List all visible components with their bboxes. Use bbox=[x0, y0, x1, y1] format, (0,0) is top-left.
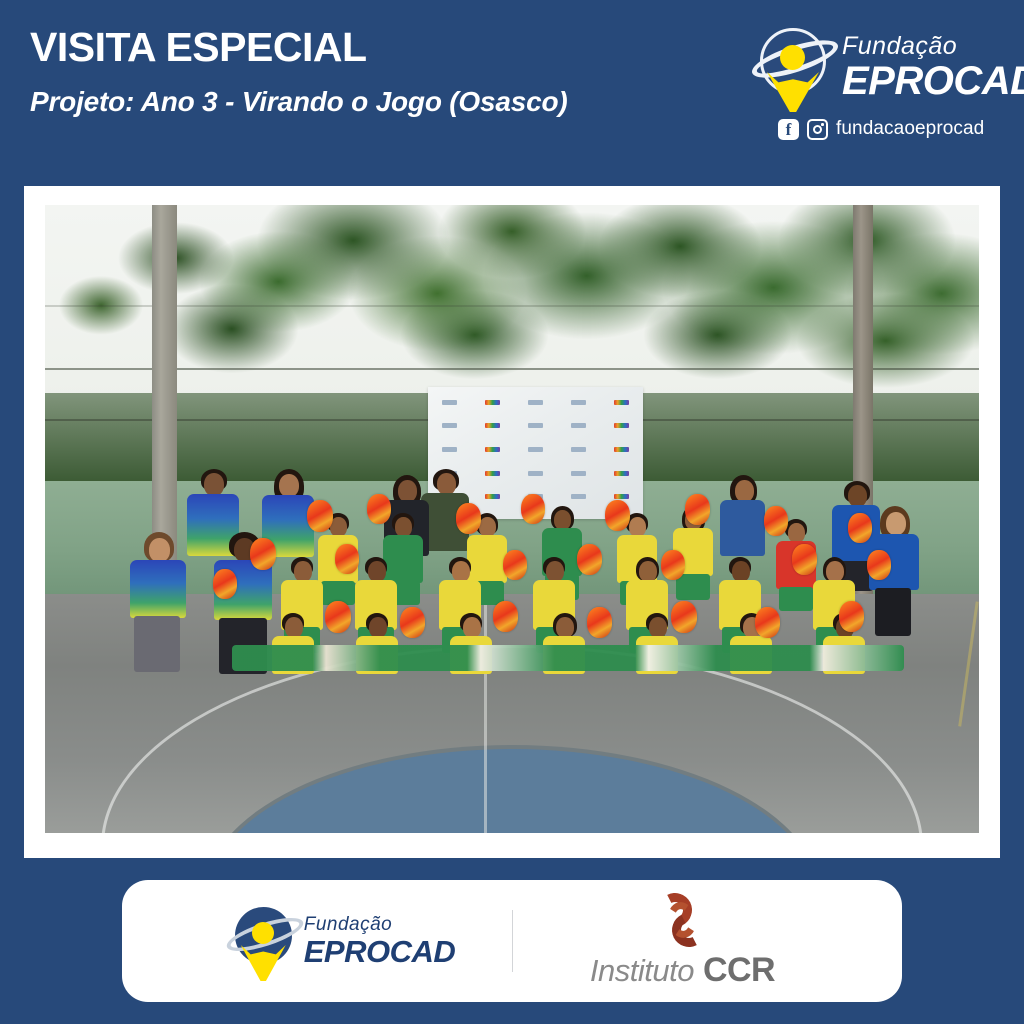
ccr-swirl-icon bbox=[656, 893, 710, 949]
foil-egg bbox=[755, 607, 780, 638]
brand-line-eprocad: EPROCAD bbox=[842, 61, 1024, 101]
foil-egg bbox=[764, 506, 788, 536]
foil-egg bbox=[867, 550, 891, 580]
instagram-dot-icon bbox=[821, 123, 824, 126]
footer-brand-line-eprocad: EPROCAD bbox=[304, 936, 456, 967]
eprocad-planet-icon bbox=[228, 904, 302, 978]
foil-egg bbox=[577, 544, 602, 575]
figure-head-icon bbox=[780, 45, 805, 70]
header-titles: VISITA ESPECIAL Projeto: Ano 3 - Virando… bbox=[30, 26, 730, 118]
facebook-icon[interactable]: f bbox=[778, 119, 799, 140]
foil-egg bbox=[213, 569, 237, 599]
sponsor-bar: Fundação EPROCAD Instituto CCR bbox=[122, 880, 902, 1002]
fence-wire bbox=[45, 368, 979, 370]
foil-egg bbox=[605, 500, 630, 531]
ccr-wordmark: Instituto CCR bbox=[590, 951, 775, 990]
footer-eprocad-wordmark: Fundação EPROCAD bbox=[304, 915, 456, 967]
foil-egg bbox=[848, 513, 872, 543]
ccr-word-instituto: Instituto bbox=[590, 953, 694, 989]
seated-legs-band bbox=[232, 645, 904, 671]
foil-egg bbox=[792, 544, 817, 575]
figure-head-icon bbox=[252, 922, 274, 944]
foil-egg bbox=[521, 494, 545, 524]
photo-frame bbox=[24, 186, 1000, 858]
event-photo bbox=[45, 205, 979, 833]
foil-egg bbox=[456, 503, 481, 534]
foil-egg bbox=[493, 601, 518, 632]
person-staff bbox=[129, 532, 189, 672]
poster-canvas: VISITA ESPECIAL Projeto: Ano 3 - Virando… bbox=[0, 0, 1024, 1024]
instagram-icon[interactable] bbox=[807, 119, 828, 140]
foil-egg bbox=[503, 550, 527, 580]
eprocad-planet-icon bbox=[752, 24, 838, 110]
brand-line-fundacao: Fundação bbox=[842, 34, 1024, 59]
page-subtitle: Projeto: Ano 3 - Virando o Jogo (Osasco) bbox=[30, 86, 730, 118]
foil-egg bbox=[250, 538, 276, 570]
foil-egg bbox=[839, 601, 864, 632]
header-logo-wordmark: Fundação EPROCAD bbox=[842, 34, 1024, 101]
footer-eprocad-logo: Fundação EPROCAD bbox=[172, 904, 512, 978]
social-row: f fundacaoeprocad bbox=[778, 118, 1002, 140]
footer-ccr-logo: Instituto CCR bbox=[513, 893, 853, 990]
fence-wire bbox=[45, 305, 979, 307]
social-handle: fundacaoeprocad bbox=[836, 118, 984, 140]
page-title: VISITA ESPECIAL bbox=[30, 26, 730, 69]
instagram-lens-icon bbox=[813, 125, 822, 134]
footer-brand-line-fundacao: Fundação bbox=[304, 915, 456, 934]
foil-egg bbox=[335, 544, 359, 574]
foil-egg bbox=[325, 601, 351, 633]
foil-egg bbox=[400, 607, 425, 638]
foil-egg bbox=[587, 607, 612, 638]
foil-egg bbox=[307, 500, 333, 532]
header-brand-logo: Fundação EPROCAD f fundacaoeprocad bbox=[752, 22, 1002, 150]
foil-egg bbox=[685, 494, 710, 525]
ccr-word-ccr: CCR bbox=[703, 951, 775, 990]
foil-egg bbox=[367, 494, 391, 524]
foil-egg bbox=[671, 601, 697, 633]
header-logo-row: Fundação EPROCAD bbox=[752, 22, 1002, 112]
